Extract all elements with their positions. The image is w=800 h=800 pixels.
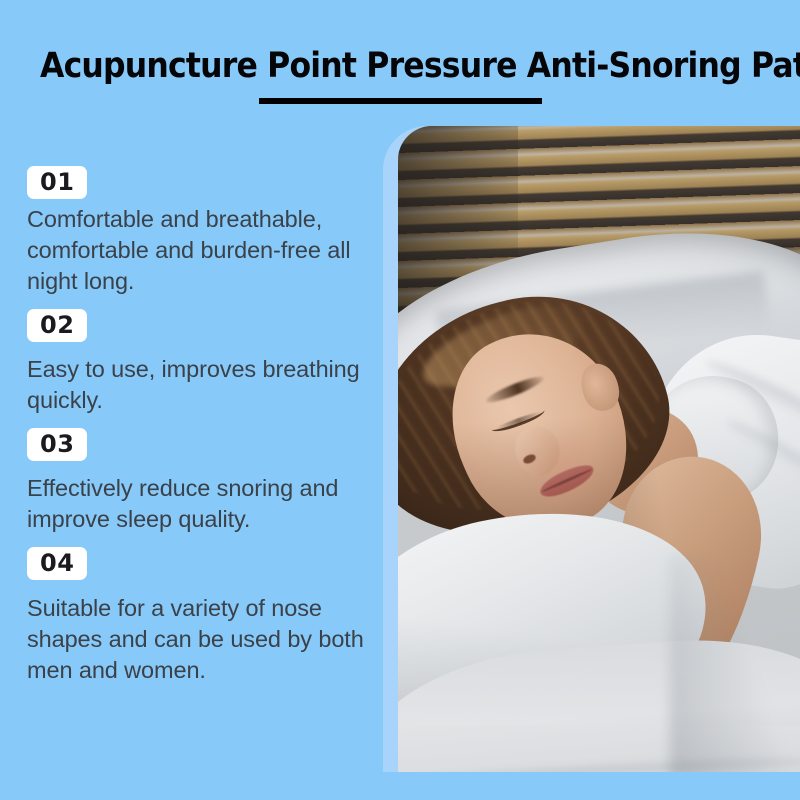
- feature-number-badge: 03: [27, 428, 87, 461]
- feature-description: Comfortable and breathable, comfortable …: [27, 204, 372, 297]
- duvet-shadow: [670, 556, 800, 772]
- title-underline-rule: [259, 98, 542, 104]
- feature-description: Suitable for a variety of nose shapes an…: [27, 593, 372, 686]
- feature-item-01: 01 Comfortable and breathable, comfortab…: [27, 166, 372, 297]
- feature-description: Effectively reduce snoring and improve s…: [27, 473, 372, 535]
- feature-list: 01 Comfortable and breathable, comfortab…: [27, 166, 372, 698]
- product-infographic-poster: Acupuncture Point Pressure Anti-Snoring …: [0, 0, 800, 800]
- feature-number-badge: 01: [27, 166, 87, 199]
- page-title: Acupuncture Point Pressure Anti-Snoring …: [40, 44, 760, 88]
- feature-item-03: 03 Effectively reduce snoring and improv…: [27, 428, 372, 535]
- photo-frame: [383, 126, 800, 772]
- feature-item-04: 04 Suitable for a variety of nose shapes…: [27, 547, 372, 686]
- photo-scene: [398, 126, 800, 772]
- feature-description: Easy to use, improves breathing quickly.: [27, 354, 372, 416]
- feature-item-02: 02 Easy to use, improves breathing quick…: [27, 309, 372, 416]
- feature-number-badge: 04: [27, 547, 87, 580]
- title-block: Acupuncture Point Pressure Anti-Snoring …: [0, 44, 800, 104]
- feature-number-badge: 02: [27, 309, 87, 342]
- sleeping-woman-photo: [398, 126, 800, 772]
